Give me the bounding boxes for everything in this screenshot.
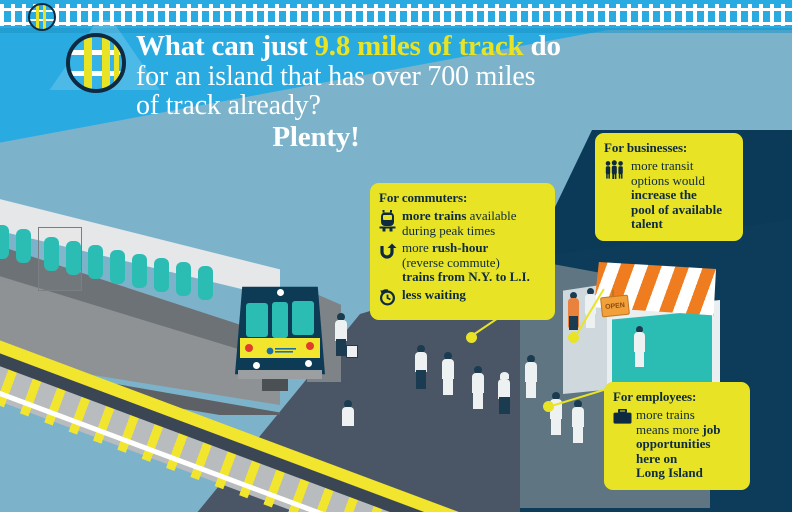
businesses-line-3: increase the <box>631 187 697 202</box>
train-marker-light-right <box>306 342 314 350</box>
callout-commuters-item-1: more trains available during peak times <box>379 209 545 238</box>
train-window <box>198 266 213 300</box>
callout-employees[interactable]: For employees: more trains means more jo… <box>604 382 750 490</box>
businesses-line-2: options would <box>631 174 733 189</box>
callout-commuters-item-2: more rush-hour (reverse commute) trains … <box>379 241 545 285</box>
train-marker-light-left <box>245 344 253 352</box>
commuters-text-2a: more <box>402 240 432 255</box>
group-of-people-icon <box>604 159 628 185</box>
train-window <box>88 245 103 279</box>
train-windshield-left <box>246 303 268 337</box>
top-track-strip <box>0 0 792 30</box>
callout-commuters-item-1-text: more trains available during peak times <box>402 209 545 238</box>
train-windshield-right <box>292 301 314 335</box>
clock-rewind-icon <box>379 288 399 311</box>
commuters-bold-2: rush-hour <box>432 240 488 255</box>
commuters-bold-3: less waiting <box>402 287 466 302</box>
train-headlight-right <box>304 359 313 368</box>
leader-dot-businesses <box>568 332 579 343</box>
train-window <box>132 254 147 288</box>
commuters-text-1b: during peak times <box>402 224 545 239</box>
callout-commuters-item-3: less waiting <box>379 288 545 311</box>
train-front-coupler-plate <box>238 370 322 379</box>
callout-businesses-heading: For businesses: <box>604 140 733 156</box>
leader-dot-employees <box>543 401 554 412</box>
callout-employees-text: more trains means more job opportunities… <box>636 408 740 481</box>
train-window <box>16 229 31 263</box>
train-roof-light <box>276 288 285 297</box>
commuters-text-2b: (reverse commute) <box>402 256 545 271</box>
callout-commuters-item-3-text: less waiting <box>402 288 545 303</box>
commuters-bold-2c: trains from N.Y. to L.I. <box>402 269 530 284</box>
headline-pre: What can just <box>136 30 314 62</box>
open-sign: OPEN <box>600 295 630 318</box>
employees-line-2a: means more <box>636 422 702 437</box>
track-marker-icon <box>28 3 56 31</box>
train-headlight-left <box>252 361 261 370</box>
train-coupler <box>262 379 288 391</box>
train-window <box>176 262 191 296</box>
headline-line-3: of track already? <box>136 91 666 121</box>
lirr-logo-mark <box>266 346 298 356</box>
businesses-line-1: more transit <box>631 159 733 174</box>
employees-line-3: opportunities <box>636 436 710 451</box>
headline-post: do <box>523 30 560 62</box>
train-window <box>110 250 125 284</box>
callout-businesses-item: more transit options would increase the … <box>604 159 733 232</box>
train-window <box>66 241 81 275</box>
callout-employees-heading: For employees: <box>613 389 740 405</box>
u-turn-arrow-icon <box>379 241 399 266</box>
train-front-icon <box>379 209 399 237</box>
businesses-line-4: pool of available <box>631 202 722 217</box>
headline-highlight: 9.8 miles of track <box>314 30 523 62</box>
train-window <box>154 258 169 292</box>
businesses-line-5: talent <box>631 216 663 231</box>
callout-commuters-heading: For commuters: <box>379 190 545 206</box>
callout-businesses[interactable]: For businesses: <box>595 133 743 241</box>
train-windshield-center <box>272 302 288 338</box>
track-magnifier-icon <box>66 33 126 93</box>
headline-line-4: Plenty! <box>136 122 666 153</box>
callout-commuters[interactable]: For commuters: more trains available dur… <box>370 183 555 320</box>
leader-dot-commuters <box>466 332 477 343</box>
employees-line-5: Long Island <box>636 465 703 480</box>
callout-employees-item: more trains means more job opportunities… <box>613 408 740 481</box>
page-title: What can just 9.8 miles of track do for … <box>136 31 666 153</box>
lirr-logo <box>266 343 298 353</box>
top-track-ties <box>0 4 792 26</box>
headline-line-2: for an island that has over 700 miles <box>136 62 666 92</box>
employees-line-4: here on <box>636 451 677 466</box>
infographic-canvas: OPEN <box>0 0 792 512</box>
train-window <box>44 237 59 271</box>
train-window <box>0 225 9 259</box>
callout-commuters-item-2-text: more rush-hour (reverse commute) trains … <box>402 241 545 285</box>
headline-line-1: What can just 9.8 miles of track do <box>136 31 666 62</box>
employees-line-1: more trains <box>636 408 740 423</box>
briefcase-icon <box>613 408 633 430</box>
employees-line-2b: job <box>702 422 720 437</box>
commuters-text-1: available <box>466 208 516 223</box>
commuters-bold-1: more trains <box>402 208 466 223</box>
callout-businesses-text: more transit options would increase the … <box>631 159 733 232</box>
